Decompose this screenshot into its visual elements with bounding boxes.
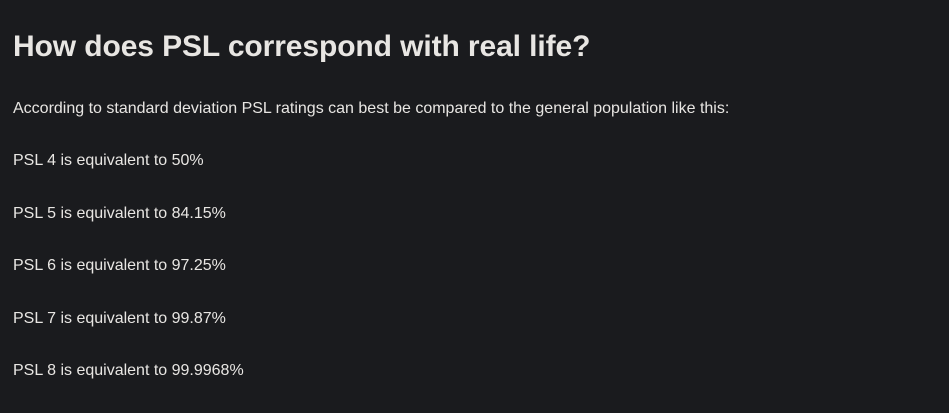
intro-paragraph: According to standard deviation PSL rati…	[13, 98, 729, 120]
list-item: PSL 7 is equivalent to 99.87%	[13, 308, 933, 361]
list-item: PSL 6 is equivalent to 97.25%	[13, 255, 933, 308]
page-title: How does PSL correspond with real life?	[13, 27, 590, 67]
psl-equivalence-list: PSL 4 is equivalent to 50% PSL 5 is equi…	[13, 150, 933, 413]
list-item: PSL 8 is equivalent to 99.9968%	[13, 360, 933, 413]
list-item: PSL 5 is equivalent to 84.15%	[13, 203, 933, 256]
article-page: How does PSL correspond with real life? …	[0, 0, 949, 401]
list-item: PSL 4 is equivalent to 50%	[13, 150, 933, 203]
